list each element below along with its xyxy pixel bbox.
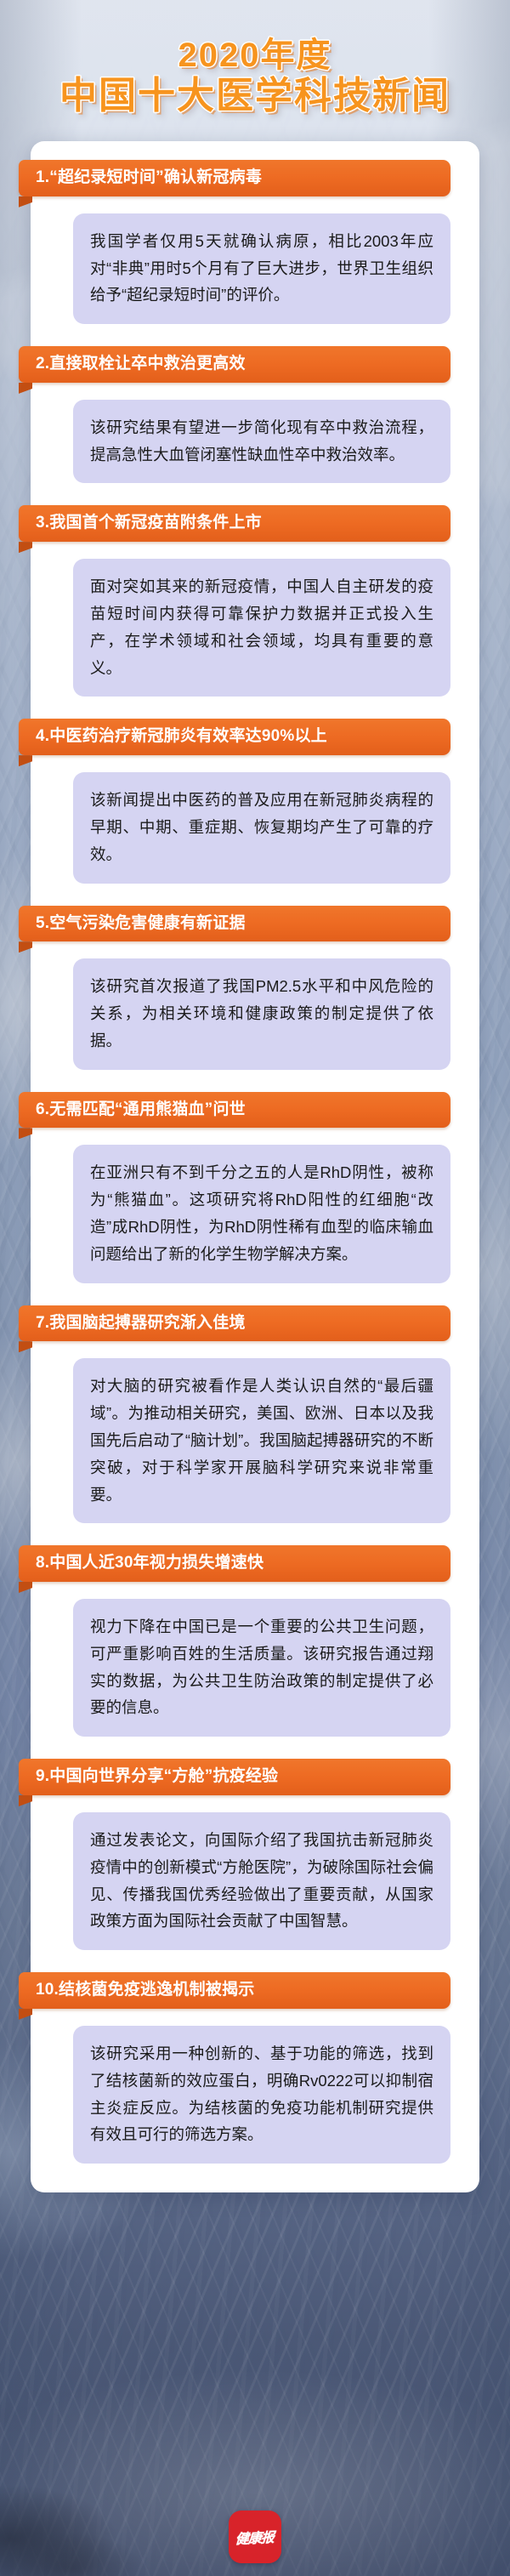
news-body-text-7: 对大脑的研究被看作是人类认识自然的“最后疆域”。为推动相关研究，美国、欧洲、日本…	[90, 1373, 433, 1508]
title-line-main: 中国十大医学科技新闻	[0, 77, 510, 117]
news-heading-text-8: 8.中国人近30年视力损失增速快	[36, 1553, 439, 1574]
spacer	[31, 697, 479, 719]
news-body-text-10: 该研究采用一种创新的、基于功能的筛选，找到了结核菌新的效应蛋白，明确Rv0222…	[90, 2040, 433, 2148]
news-heading-text-4: 4.中医药治疗新冠肺炎有效率达90%以上	[36, 726, 439, 748]
spacer	[31, 1070, 479, 1092]
news-heading-text-9: 9.中国向世界分享“方舱”抗疫经验	[36, 1766, 439, 1788]
news-body-box-3: 面对突如其来的新冠疫情，中国人自主研发的疫苗短时间内获得可靠保护力数据并正式投入…	[73, 559, 450, 697]
spacer	[31, 1523, 479, 1545]
title-line-year: 2020年度	[0, 37, 510, 73]
news-item-2: 2.直接取栓让卒中救治更高效 该研究结果有望进一步简化现有卒中救治流程，提高急性…	[31, 346, 479, 483]
page-title: 2020年度 中国十大医学科技新闻	[0, 37, 510, 117]
spacer	[31, 324, 479, 346]
news-body-text-4: 该新闻提出中医药的普及应用在新冠肺炎病程的早期、中期、重症期、恢复期均产生了可靠…	[90, 787, 433, 867]
spacer	[31, 1737, 479, 1759]
news-body-text-5: 该研究首次报道了我国PM2.5水平和中风危险的关系，为相关环境和健康政策的制定提…	[90, 973, 433, 1054]
news-item-7: 7.我国脑起搏器研究渐入佳境 对大脑的研究被看作是人类认识自然的“最后疆域”。为…	[31, 1305, 479, 1524]
news-item-8: 8.中国人近30年视力损失增速快 视力下降在中国已是一个重要的公共卫生问题，可严…	[31, 1545, 479, 1737]
news-body-box-4: 该新闻提出中医药的普及应用在新冠肺炎病程的早期、中期、重症期、恢复期均产生了可靠…	[73, 772, 450, 883]
news-body-text-8: 视力下降在中国已是一个重要的公共卫生问题，可严重影响百姓的生活质量。该研究报告通…	[90, 1613, 433, 1721]
news-heading-ribbon-10[interactable]: 10.结核菌免疫逃逸机制被揭示	[19, 1972, 450, 2009]
news-heading-ribbon-4[interactable]: 4.中医药治疗新冠肺炎有效率达90%以上	[19, 719, 450, 755]
news-heading-text-6: 6.无需匹配“通用熊猫血”问世	[36, 1100, 439, 1121]
news-heading-text-3: 3.我国首个新冠疫苗附条件上市	[36, 513, 439, 534]
news-heading-ribbon-2[interactable]: 2.直接取栓让卒中救治更高效	[19, 346, 450, 383]
news-heading-text-5: 5.空气污染危害健康有新证据	[36, 913, 439, 935]
publisher-logo-text: 健康报	[235, 2526, 275, 2548]
news-body-box-2: 该研究结果有望进一步简化现有卒中救治流程，提高急性大血管闭塞性缺血性卒中救治效率…	[73, 400, 450, 484]
news-heading-ribbon-3[interactable]: 3.我国首个新冠疫苗附条件上市	[19, 505, 450, 542]
news-heading-ribbon-6[interactable]: 6.无需匹配“通用熊猫血”问世	[19, 1092, 450, 1129]
news-heading-text-10: 10.结核菌免疫逃逸机制被揭示	[36, 1980, 439, 2001]
news-heading-ribbon-1[interactable]: 1.“超纪录短时间”确认新冠病毒	[19, 160, 450, 196]
publisher-logo[interactable]: 健康报	[229, 2511, 281, 2563]
news-item-9: 9.中国向世界分享“方舱”抗疫经验 通过发表论文，向国际介绍了我国抗击新冠肺炎疫…	[31, 1759, 479, 1950]
news-body-text-3: 面对突如其来的新冠疫情，中国人自主研发的疫苗短时间内获得可靠保护力数据并正式投入…	[90, 573, 433, 681]
spacer	[31, 884, 479, 906]
news-body-box-9: 通过发表论文，向国际介绍了我国抗击新冠肺炎疫情中的创新模式“方舱医院”，为破除国…	[73, 1812, 450, 1950]
news-body-box-5: 该研究首次报道了我国PM2.5水平和中风危险的关系，为相关环境和健康政策的制定提…	[73, 958, 450, 1069]
news-heading-ribbon-5[interactable]: 5.空气污染危害健康有新证据	[19, 906, 450, 942]
news-body-text-2: 该研究结果有望进一步简化现有卒中救治流程，提高急性大血管闭塞性缺血性卒中救治效率…	[90, 414, 433, 469]
news-body-box-8: 视力下降在中国已是一个重要的公共卫生问题，可严重影响百姓的生活质量。该研究报告通…	[73, 1599, 450, 1737]
news-item-5: 5.空气污染危害健康有新证据 该研究首次报道了我国PM2.5水平和中风危险的关系…	[31, 906, 479, 1070]
news-item-10: 10.结核菌免疫逃逸机制被揭示 该研究采用一种创新的、基于功能的筛选，找到了结核…	[31, 1972, 479, 2164]
news-body-box-7: 对大脑的研究被看作是人类认识自然的“最后疆域”。为推动相关研究，美国、欧洲、日本…	[73, 1358, 450, 1523]
news-body-text-6: 在亚洲只有不到千分之五的人是RhD阴性，被称为“熊猫血”。这项研究将RhD阳性的…	[90, 1159, 433, 1267]
spacer	[31, 483, 479, 505]
news-heading-text-1: 1.“超纪录短时间”确认新冠病毒	[36, 168, 439, 189]
spacer	[31, 1950, 479, 1972]
news-heading-text-7: 7.我国脑起搏器研究渐入佳境	[36, 1313, 439, 1334]
news-heading-text-2: 2.直接取栓让卒中救治更高效	[36, 354, 439, 375]
news-item-3: 3.我国首个新冠疫苗附条件上市 面对突如其来的新冠疫情，中国人自主研发的疫苗短时…	[31, 505, 479, 697]
news-item-4: 4.中医药治疗新冠肺炎有效率达90%以上 该新闻提出中医药的普及应用在新冠肺炎病…	[31, 719, 479, 883]
news-item-6: 6.无需匹配“通用熊猫血”问世 在亚洲只有不到千分之五的人是RhD阴性，被称为“…	[31, 1092, 479, 1283]
news-body-text-9: 通过发表论文，向国际介绍了我国抗击新冠肺炎疫情中的创新模式“方舱医院”，为破除国…	[90, 1827, 433, 1935]
news-body-text-1: 我国学者仅用5天就确认病原，相比2003年应对“非典”用时5个月有了巨大进步，世…	[90, 228, 433, 309]
news-heading-ribbon-7[interactable]: 7.我国脑起搏器研究渐入佳境	[19, 1305, 450, 1342]
news-heading-ribbon-8[interactable]: 8.中国人近30年视力损失增速快	[19, 1545, 450, 1582]
news-body-box-1: 我国学者仅用5天就确认病原，相比2003年应对“非典”用时5个月有了巨大进步，世…	[73, 213, 450, 324]
news-item-1: 1.“超纪录短时间”确认新冠病毒 我国学者仅用5天就确认病原，相比2003年应对…	[31, 160, 479, 324]
news-body-box-6: 在亚洲只有不到千分之五的人是RhD阴性，被称为“熊猫血”。这项研究将RhD阳性的…	[73, 1145, 450, 1282]
news-body-box-10: 该研究采用一种创新的、基于功能的筛选，找到了结核菌新的效应蛋白，明确Rv0222…	[73, 2026, 450, 2164]
news-heading-ribbon-9[interactable]: 9.中国向世界分享“方舱”抗疫经验	[19, 1759, 450, 1795]
news-card: 1.“超纪录短时间”确认新冠病毒 我国学者仅用5天就确认病原，相比2003年应对…	[31, 141, 479, 2192]
spacer	[31, 1283, 479, 1305]
